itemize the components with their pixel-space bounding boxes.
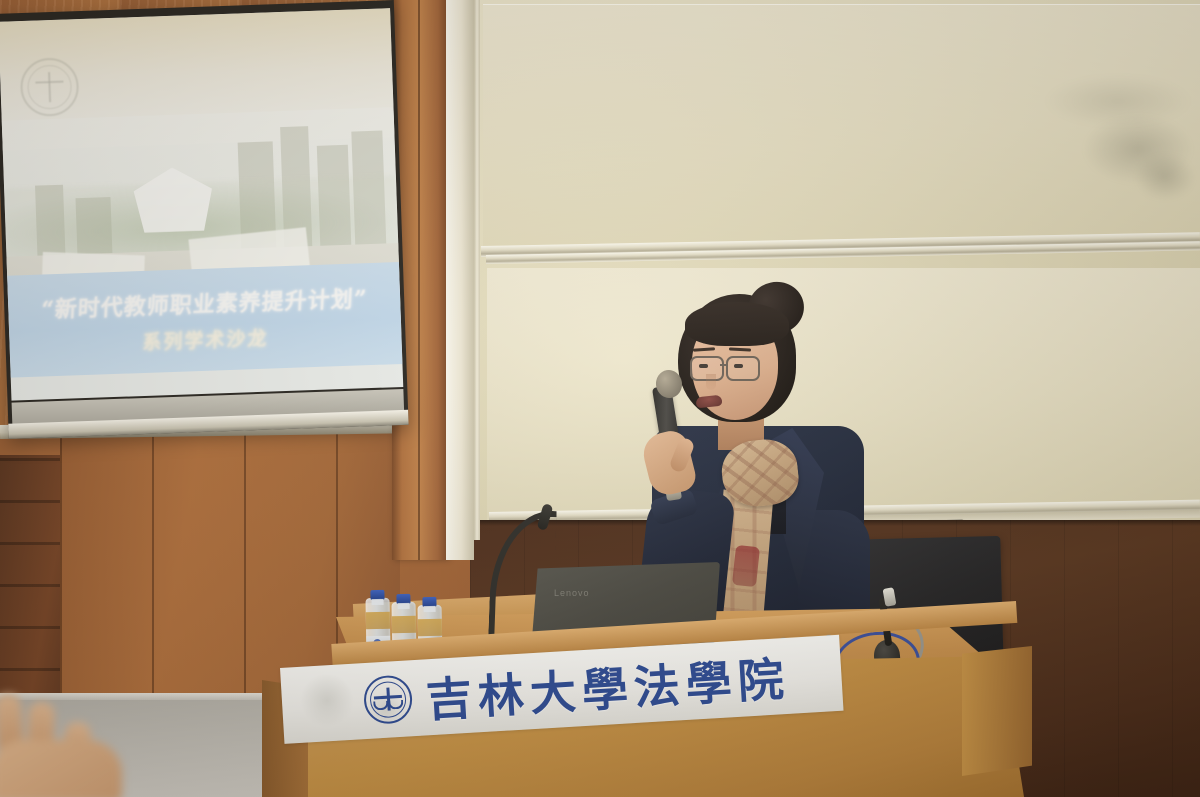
laptop-brand-label: Lenovo — [554, 588, 590, 598]
projection-screen: “新时代教师职业素养提升计划” 系列学术沙龙 — [0, 0, 409, 439]
slide-title-band: “新时代教师职业素养提升计划” 系列学术沙龙 — [7, 262, 402, 378]
lecture-hall-photo: “新时代教师职业素养提升计划” 系列学术沙龙 — [0, 0, 1200, 797]
lectern: Lenovo 吉林大學法學院 — [262, 560, 1052, 797]
pillar-seam — [418, 0, 420, 560]
table-microphone-head — [883, 587, 897, 607]
screen-surface: “新时代教师职业素养提升计划” 系列学术沙龙 — [0, 8, 403, 400]
marker-smudge — [1043, 74, 1193, 128]
marker-smudge — [1135, 154, 1195, 200]
lectern-right-corner — [962, 646, 1032, 776]
slide-title: “新时代教师职业素养提升计划” — [40, 281, 368, 324]
glasses-bridge — [720, 364, 728, 366]
nose — [706, 374, 716, 390]
hair-fringe — [685, 302, 789, 346]
slide-subtitle: 系列学术沙龙 — [142, 324, 269, 355]
palm — [0, 740, 122, 797]
wall-trim-vertical — [446, 0, 474, 560]
foreground-hand — [0, 688, 142, 797]
banner-watermark — [298, 672, 355, 729]
glasses-icon — [726, 356, 760, 381]
whiteboard-upper — [483, 4, 1200, 250]
wall-trim-inner — [474, 0, 480, 540]
